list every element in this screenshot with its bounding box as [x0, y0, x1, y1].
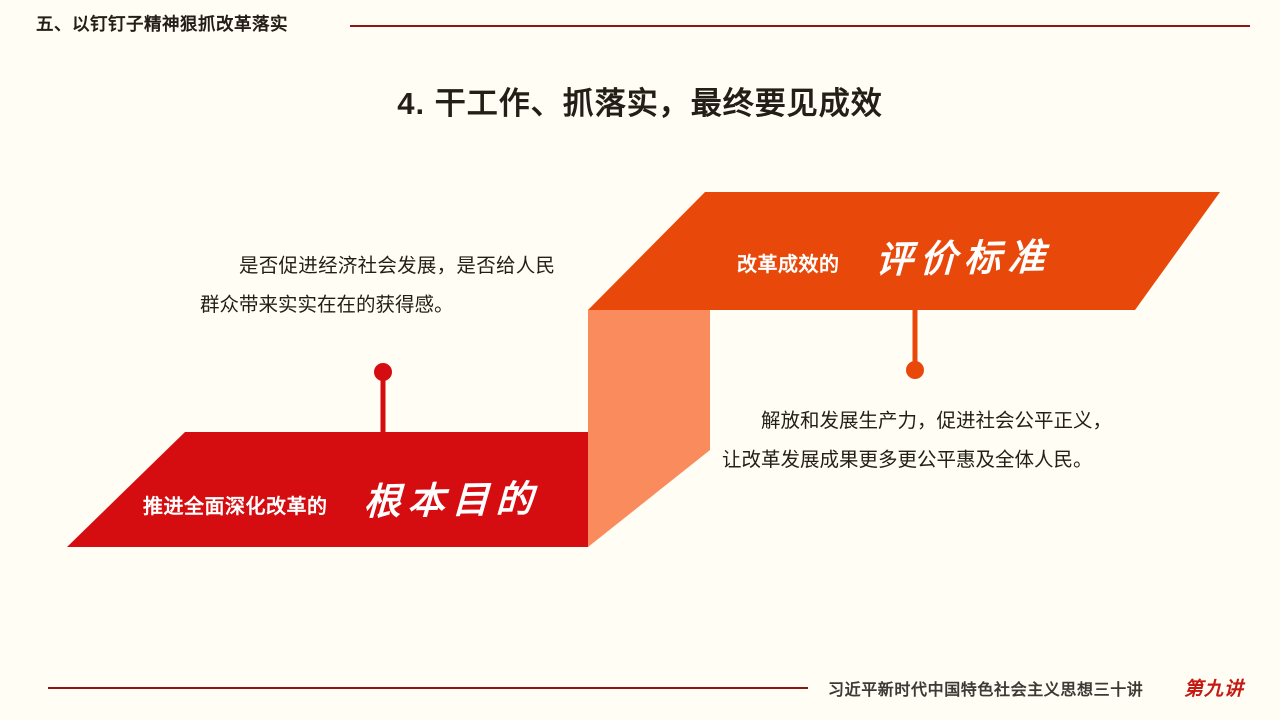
footer-divider-line: [48, 687, 808, 689]
paragraph-left: 是否促进经济社会发展，是否给人民群众带来实实在在的获得感。: [200, 247, 555, 325]
bottom-slab-label: 推进全面深化改革的 根本目的: [143, 470, 540, 524]
header-section-label: 五、以钉钉子精神狠抓改革落实: [36, 11, 288, 36]
slide-canvas: 五、以钉钉子精神狠抓改革落实 4. 干工作、抓落实，最终要见成效 改革成效的 评…: [0, 0, 1280, 720]
bottom-slab-lead-text: 推进全面深化改革的: [143, 490, 328, 519]
footer-lecture-label: 第九讲: [1184, 674, 1244, 701]
connector-dot-left: [374, 363, 392, 381]
paragraph-right: 解放和发展生产力，促进社会公平正义，让改革发展成果更多更公平惠及全体人民。: [722, 402, 1112, 480]
bottom-slab-brush-text: 根本目的: [362, 468, 540, 525]
top-slab-lead-text: 改革成效的: [737, 248, 840, 277]
top-slab-label: 改革成效的 评价标准: [737, 228, 1052, 282]
connector-dot-right: [906, 361, 924, 379]
block-side-face: [588, 310, 710, 547]
top-slab-brush-text: 评价标准: [874, 226, 1052, 283]
page-title: 4. 干工作、抓落实，最终要见成效: [0, 78, 1280, 123]
header-divider-line: [350, 25, 1250, 27]
footer-series-title: 习近平新时代中国特色社会主义思想三十讲: [828, 676, 1143, 700]
